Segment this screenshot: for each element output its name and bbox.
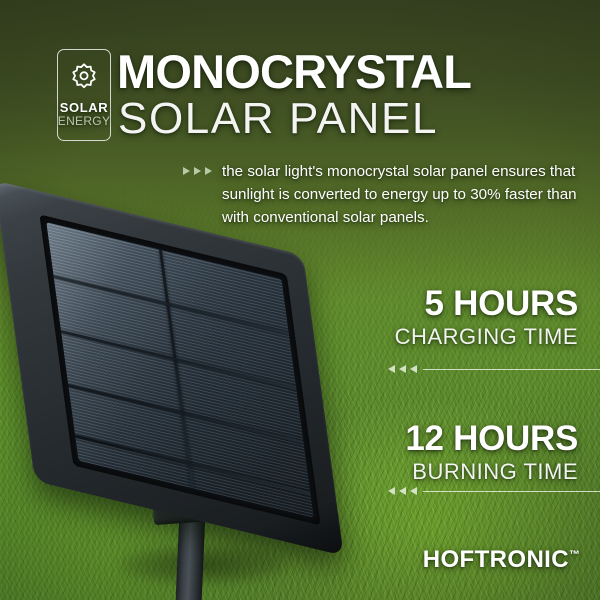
badge-line-energy: ENERGY [58,114,110,129]
page-title: MONOCRYSTAL [117,48,471,95]
stat-label: BURNING TIME [405,458,578,486]
divider-rule [423,491,600,492]
trademark-symbol: ™ [569,549,580,561]
brand-name: HOFTRONIC [423,546,569,573]
stat-burning-time: 12 HOURS BURNING TIME [405,421,578,485]
body-description: the solar light's monocrystal solar pane… [222,160,584,229]
stat-value: 5 HOURS [395,286,578,323]
section-divider-2 [388,486,600,496]
triple-left-arrow-icon [388,487,417,495]
sun-gear-icon [71,63,97,94]
page-subtitle: SOLAR PANEL [118,97,438,141]
section-divider-1 [388,364,600,374]
stat-value: 12 HOURS [405,421,578,458]
triple-right-arrow-icon [183,167,212,175]
stat-label: CHARGING TIME [395,323,578,351]
triple-left-arrow-icon [388,365,417,373]
solar-energy-badge: SOLAR ENERGY [57,49,111,141]
stat-charging-time: 5 HOURS CHARGING TIME [395,286,578,350]
brand-logo: HOFTRONIC™ [423,548,580,572]
divider-rule [423,369,600,370]
lamp-head-assembly [5,212,340,528]
product-marketing-banner: SOLAR ENERGY MONOCRYSTAL SOLAR PANEL the… [0,0,600,600]
badge-line-solar: SOLAR [60,101,109,114]
product-image-solar-spotlight [0,215,360,600]
